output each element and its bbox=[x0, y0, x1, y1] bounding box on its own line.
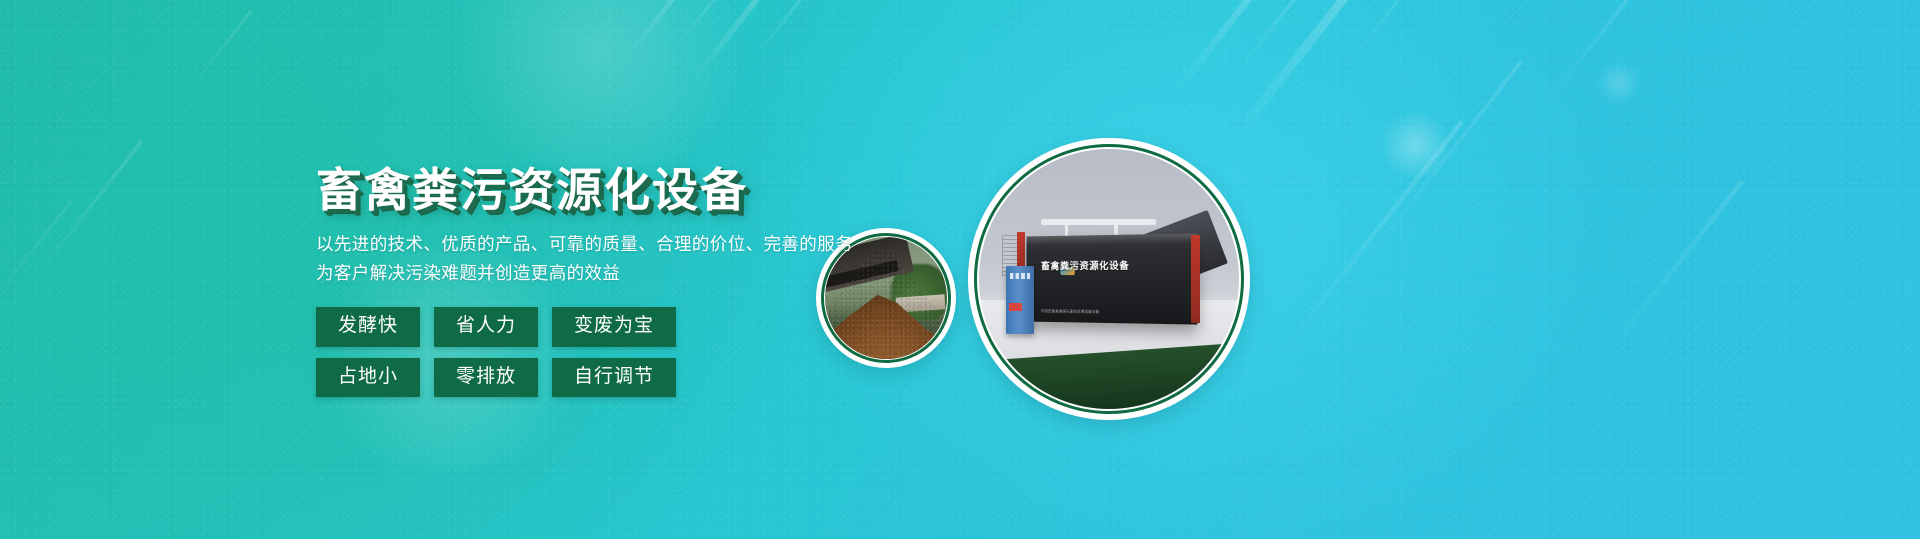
streak-3 bbox=[688, 0, 773, 86]
equipment-photo: 畜禽粪污资源化设备 环保型畜禽粪便无害化处理成套设备 bbox=[979, 149, 1239, 409]
streak-7 bbox=[1233, 0, 1376, 139]
page-title: 畜禽粪污资源化设备 bbox=[316, 166, 956, 214]
feature-tag-row-2: 占地小 零排放 自行调节 bbox=[316, 358, 956, 398]
streak-14 bbox=[1541, 0, 1643, 109]
equipment-control-cabinet bbox=[1006, 266, 1033, 334]
streak-13 bbox=[182, 10, 252, 99]
glow-dot-1 bbox=[1380, 110, 1450, 180]
glow-dot-2 bbox=[1596, 60, 1642, 106]
equipment-container-body: 畜禽粪污资源化设备 环保型畜禽粪便无害化处理成套设备 bbox=[1027, 233, 1198, 325]
equipment-endcap-right bbox=[1191, 235, 1200, 323]
streak-8 bbox=[1352, 0, 1422, 59]
feature-tag-waste-to-treasure[interactable]: 变废为宝 bbox=[552, 307, 676, 347]
streak-9 bbox=[1275, 120, 1464, 359]
equipment-unit-sublabel: 环保型畜禽粪便无害化处理成套设备 bbox=[1041, 309, 1181, 316]
feature-tag-group: 发酵快 省人力 变废为宝 占地小 零排放 自行调节 bbox=[316, 307, 956, 397]
equipment-scene: 畜禽粪污资源化设备 环保型畜禽粪便无害化处理成套设备 bbox=[979, 149, 1239, 409]
streak-2 bbox=[677, 0, 738, 47]
feature-tag-fast-fermentation[interactable]: 发酵快 bbox=[316, 307, 420, 347]
feature-tag-save-labor[interactable]: 省人力 bbox=[434, 307, 538, 347]
equipment-rail bbox=[1041, 219, 1155, 225]
streak-10 bbox=[1360, 60, 1523, 267]
streak-11 bbox=[29, 140, 143, 284]
soft-glow-top bbox=[430, 0, 770, 170]
feature-tag-self-adjusting[interactable]: 自行调节 bbox=[552, 358, 676, 398]
banner-copy: 畜禽粪污资源化设备 以先进的技术、优质的产品、可靠的质量、合理的价位、完善的服务… bbox=[316, 166, 956, 408]
streak-12 bbox=[0, 200, 72, 320]
banner-subtitle: 以先进的技术、优质的产品、可靠的质量、合理的价位、完善的服务 为客户解决污染难题… bbox=[316, 230, 956, 287]
equipment-unit-label: 畜禽粪污资源化设备 bbox=[1041, 261, 1181, 273]
subtitle-line-1: 以先进的技术、优质的产品、可靠的质量、合理的价位、完善的服务 bbox=[316, 230, 956, 258]
noise-overlay bbox=[0, 0, 1920, 539]
decorative-streaks bbox=[0, 0, 1920, 539]
feature-tag-small-footprint[interactable]: 占地小 bbox=[316, 358, 420, 398]
streak-6 bbox=[1238, 0, 1334, 71]
streak-15 bbox=[1598, 180, 1744, 364]
subtitle-line-2: 为客户解决污染难题并创造更高的效益 bbox=[316, 259, 956, 287]
feature-tag-zero-emission[interactable]: 零排放 bbox=[434, 358, 538, 398]
streak-5 bbox=[1173, 0, 1295, 94]
feature-tag-row-1: 发酵快 省人力 变废为宝 bbox=[316, 307, 956, 347]
equipment-cabinet-panel bbox=[1009, 303, 1022, 311]
hero-banner: 畜禽粪污资源化设备 以先进的技术、优质的产品、可靠的质量、合理的价位、完善的服务… bbox=[0, 0, 1920, 539]
equipment-render-circle: 畜禽粪污资源化设备 环保型畜禽粪便无害化处理成套设备 bbox=[968, 138, 1250, 420]
streak-1 bbox=[626, 0, 704, 58]
streak-4 bbox=[757, 0, 809, 55]
